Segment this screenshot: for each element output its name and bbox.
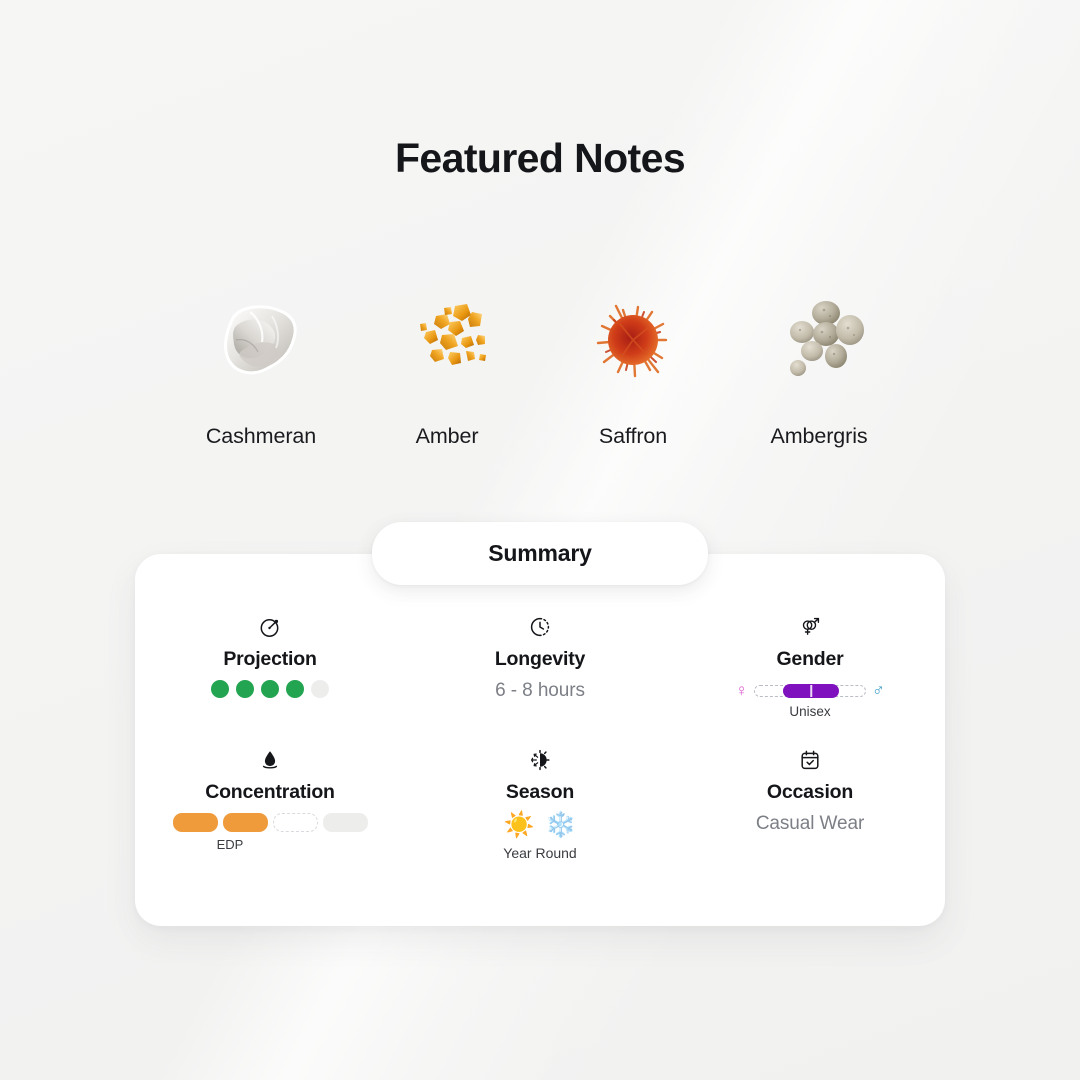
cell-title: Concentration (205, 781, 335, 804)
gender-track[interactable] (754, 685, 866, 697)
snowflake-emoji: ❄️ (545, 813, 576, 838)
featured-notes-row: Cashmeran (168, 288, 912, 449)
projection-dot-1 (211, 680, 229, 698)
clock-icon (528, 614, 552, 640)
note-item-saffron[interactable]: Saffron (540, 288, 726, 449)
note-label: Ambergris (770, 424, 867, 449)
note-label: Saffron (599, 424, 667, 449)
sun-emoji: ☀️ (504, 813, 535, 838)
concentration-seg-1 (173, 813, 218, 832)
projection-dot-3 (261, 680, 279, 698)
note-label: Amber (416, 424, 479, 449)
summary-card: Projection Longevi (135, 554, 945, 926)
gender-fill-indicator (783, 684, 839, 698)
summary-cell-projection: Projection (135, 614, 405, 719)
projection-dot-2 (236, 680, 254, 698)
summary-cell-longevity: Longevity 6 - 8 hours (405, 614, 675, 719)
gender-venus-mars-icon (798, 614, 822, 640)
summary-grid: Projection Longevi (135, 614, 945, 861)
season-caption: Year Round (503, 845, 576, 861)
summary-cell-concentration: Concentration EDP (135, 747, 405, 861)
concentration-meter[interactable]: EDP (173, 813, 368, 852)
ambergris-pebbles-icon (764, 288, 874, 400)
cell-title: Occasion (767, 781, 853, 804)
venus-icon: ♀ (735, 682, 748, 699)
cell-title: Season (506, 781, 574, 804)
page-background: Featured Notes (0, 0, 1080, 1080)
projection-dot-5 (311, 680, 329, 698)
note-item-amber[interactable]: Amber (354, 288, 540, 449)
sun-snowflake-icon (528, 747, 552, 773)
summary-cell-occasion: Occasion Casual Wear (675, 747, 945, 861)
cell-title: Gender (776, 648, 843, 671)
concentration-seg-3 (273, 813, 318, 832)
season-emoji-row: ☀️ ❄️ (504, 813, 576, 838)
concentration-bars (173, 813, 368, 832)
longevity-value: 6 - 8 hours (495, 680, 585, 702)
cell-title: Longevity (495, 648, 585, 671)
tab-summary[interactable]: Summary (372, 522, 708, 585)
gauge-icon (258, 614, 282, 640)
summary-cell-season: Season ☀️ ❄️ Year Round (405, 747, 675, 861)
concentration-seg-2 (223, 813, 268, 832)
page-title: Featured Notes (0, 135, 1080, 182)
concentration-caption: EDP (217, 837, 244, 852)
projection-dot-4 (286, 680, 304, 698)
occasion-value: Casual Wear (756, 813, 864, 835)
note-item-ambergris[interactable]: Ambergris (726, 288, 912, 449)
concentration-seg-4 (323, 813, 368, 832)
note-item-cashmeran[interactable]: Cashmeran (168, 288, 354, 449)
amber-crystals-icon (392, 288, 502, 400)
summary-cell-gender: Gender ♀ ♂ Unisex (675, 614, 945, 719)
gender-caption: Unisex (789, 704, 830, 719)
saffron-threads-icon (578, 288, 688, 400)
droplet-icon (258, 747, 282, 773)
projection-dots (211, 680, 329, 698)
tab-summary-label: Summary (488, 540, 591, 567)
cell-title: Projection (223, 648, 316, 671)
mars-icon: ♂ (872, 682, 885, 699)
note-label: Cashmeran (206, 424, 316, 449)
calendar-check-icon (798, 747, 822, 773)
gender-scale[interactable]: ♀ ♂ (735, 682, 885, 699)
cashmeran-fabric-icon (206, 288, 316, 400)
